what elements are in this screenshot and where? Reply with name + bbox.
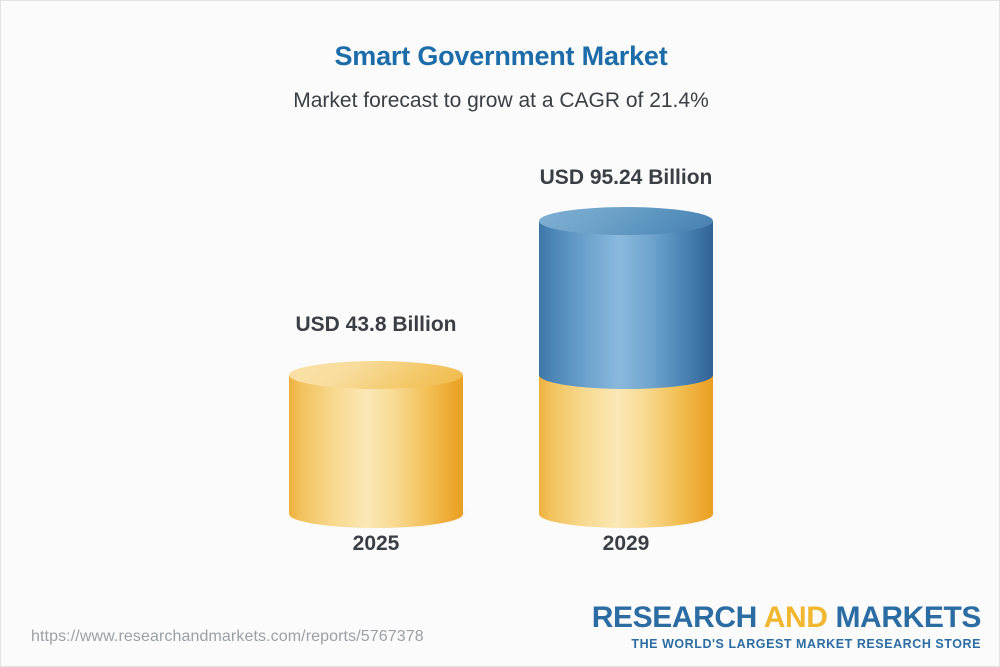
category-label-2025: 2025 <box>289 532 463 556</box>
category-label-2029: 2029 <box>539 532 713 556</box>
brand-word-research: RESEARCH <box>592 601 757 634</box>
cylinder-bottom-cap <box>289 500 463 528</box>
bar-segment-growth-2029 <box>539 221 713 375</box>
plot-area: USD 43.8 Billion 2025 USD 95.24 Billion <box>1 1 1000 601</box>
cylinder-bottom-cap <box>539 500 713 528</box>
cylinder-body <box>539 375 713 514</box>
chart-canvas: Smart Government Market Market forecast … <box>0 0 1000 667</box>
brand-word-markets: MARKETS <box>835 601 981 634</box>
cylinder-top-cap <box>289 361 463 389</box>
source-url[interactable]: https://www.researchandmarkets.com/repor… <box>31 628 424 646</box>
bar-segment-base-2029 <box>539 375 713 514</box>
cylinder-body <box>289 375 463 514</box>
brand-word-and: AND <box>764 601 828 634</box>
cylinder-top-cap <box>539 207 713 235</box>
cylinder-body <box>539 221 713 375</box>
brand-wordmark: RESEARCH AND MARKETS <box>592 603 981 633</box>
brand-logo[interactable]: RESEARCH AND MARKETS THE WORLD'S LARGEST… <box>592 603 981 651</box>
bar-segment-base-2025 <box>289 375 463 514</box>
brand-tagline: THE WORLD'S LARGEST MARKET RESEARCH STOR… <box>592 638 981 651</box>
value-label-2025: USD 43.8 Billion <box>289 313 463 337</box>
value-label-2029: USD 95.24 Billion <box>539 166 713 190</box>
bar-cylinder-2025[interactable] <box>289 375 463 514</box>
cylinder-bottom-cap <box>539 361 713 389</box>
bar-cylinder-2029[interactable] <box>539 221 713 514</box>
